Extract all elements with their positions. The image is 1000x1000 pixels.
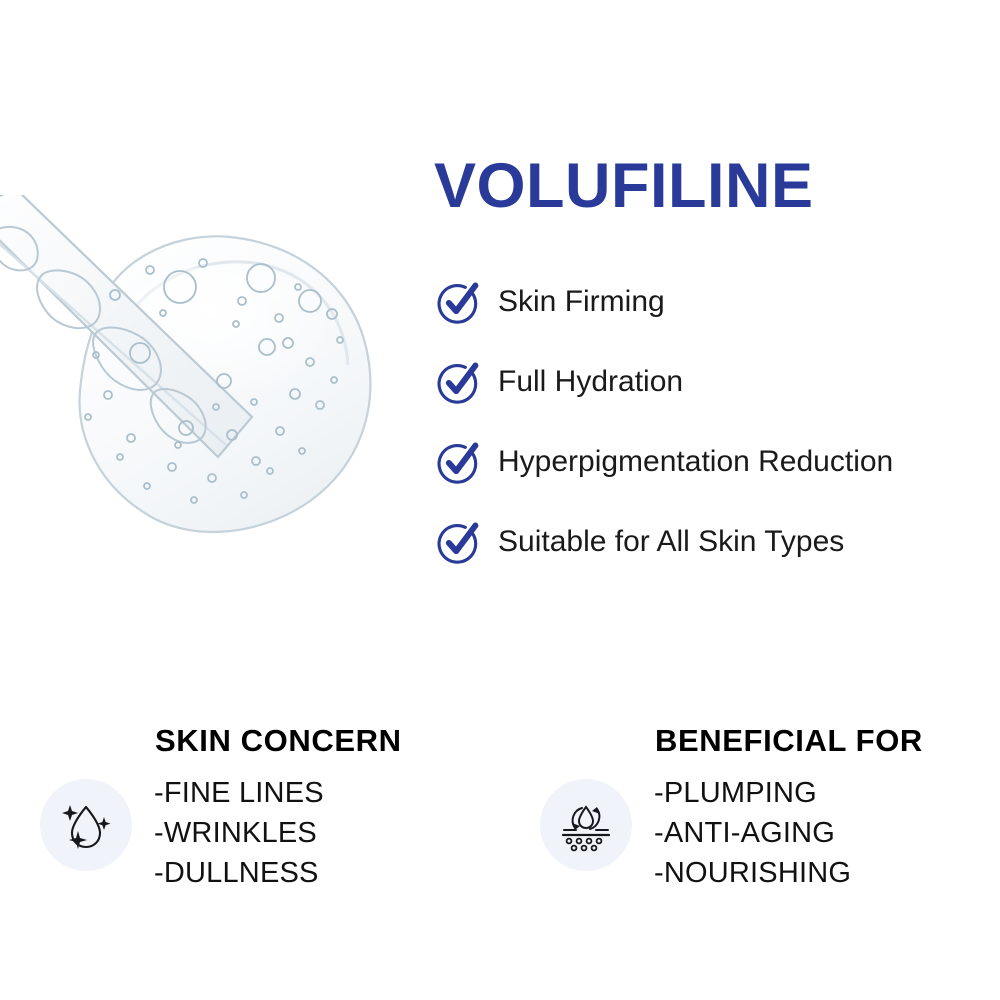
- check-circle-icon: [436, 520, 480, 564]
- beneficial-for-body: -PLUMPING -ANTI-AGING -NOURISHING: [540, 773, 851, 893]
- page-title: VOLUFILINE: [434, 155, 814, 218]
- skin-concern-body: -FINE LINES -WRINKLES -DULLNESS: [40, 773, 324, 893]
- list-item: -NOURISHING: [654, 853, 851, 893]
- skin-concern-list: -FINE LINES -WRINKLES -DULLNESS: [154, 773, 324, 893]
- droplet-skin-absorb-icon: [556, 795, 616, 855]
- skin-concern-heading: SKIN CONCERN: [155, 725, 402, 756]
- benefit-label: Skin Firming: [498, 287, 665, 317]
- benefit-label: Hyperpigmentation Reduction: [498, 447, 893, 477]
- benefit-label: Suitable for All Skin Types: [498, 527, 844, 557]
- benefit-item: Skin Firming: [436, 262, 996, 342]
- beneficial-for-heading: BENEFICIAL FOR: [655, 725, 923, 756]
- droplet-sparkle-badge: [40, 779, 132, 871]
- list-item: -FINE LINES: [154, 773, 324, 813]
- check-circle-icon: [436, 280, 480, 324]
- bottom-columns: SKIN CONCERN -FINE LINES -WRINKLES -DULL…: [0, 715, 1000, 945]
- benefit-label: Full Hydration: [498, 367, 683, 397]
- product-infographic: VOLUFILINE Skin Firming Full Hydration H…: [0, 0, 1000, 1000]
- benefit-item: Full Hydration: [436, 342, 996, 422]
- list-item: -ANTI-AGING: [654, 813, 851, 853]
- benefits-list: Skin Firming Full Hydration Hyperpigment…: [436, 262, 996, 582]
- check-circle-icon: [436, 360, 480, 404]
- product-gel-image: [0, 195, 410, 565]
- check-circle-icon: [436, 440, 480, 484]
- droplet-sparkle-icon: [56, 795, 116, 855]
- benefit-item: Suitable for All Skin Types: [436, 502, 996, 582]
- list-item: -WRINKLES: [154, 813, 324, 853]
- list-item: -DULLNESS: [154, 853, 324, 893]
- droplet-skin-absorb-badge: [540, 779, 632, 871]
- beneficial-for-list: -PLUMPING -ANTI-AGING -NOURISHING: [654, 773, 851, 893]
- benefit-item: Hyperpigmentation Reduction: [436, 422, 996, 502]
- list-item: -PLUMPING: [654, 773, 851, 813]
